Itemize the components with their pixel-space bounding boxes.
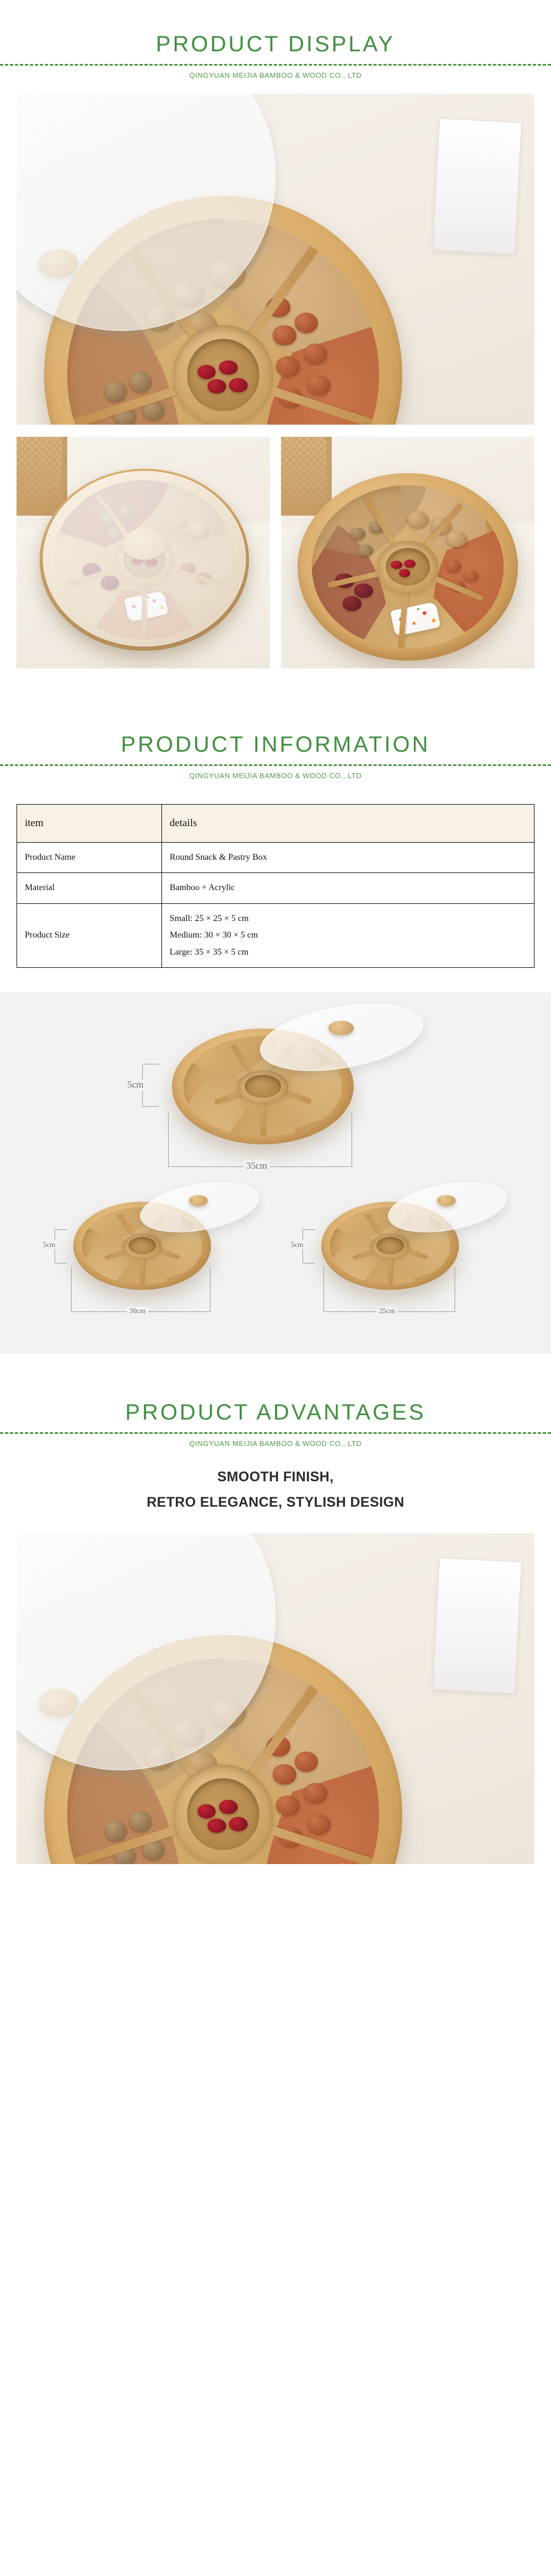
column-header-details: details xyxy=(161,805,534,843)
dimension-diagram-row: 5cm 30cm xyxy=(0,1185,551,1329)
width-dimension-label: 30cm xyxy=(127,1306,148,1315)
height-dimension-label: 5cm xyxy=(288,1240,306,1249)
center-cup xyxy=(174,1764,273,1863)
width-dimension-line xyxy=(71,1267,72,1312)
page-title-product-display: PRODUCT DISPLAY xyxy=(0,32,551,56)
section-header-product-advantages: PRODUCT ADVANTAGES QINGYUAN MEIJIA BAMBO… xyxy=(0,1368,551,1448)
dimension-diagram-small: 5cm 25cm xyxy=(295,1185,504,1329)
cell-item-product-name: Product Name xyxy=(17,843,162,873)
table-header-row: item details xyxy=(17,805,534,843)
tagline-line-1: SMOOTH FINISH, xyxy=(0,1464,551,1490)
dimension-diagram-medium: 5cm 30cm xyxy=(47,1185,256,1329)
page-title-product-information: PRODUCT INFORMATION xyxy=(0,732,551,757)
product-information-table-wrapper: item details Product Name Round Snack & … xyxy=(17,804,534,968)
width-dimension-label: 25cm xyxy=(376,1306,398,1315)
height-dimension-label: 5cm xyxy=(40,1240,58,1249)
lid-knob xyxy=(437,1195,456,1206)
section-header-product-information: PRODUCT INFORMATION QINGYUAN MEIJIA BAMB… xyxy=(0,700,551,780)
acrylic-lid xyxy=(43,471,246,646)
size-small: Small: 25 × 25 × 5 cm xyxy=(170,911,526,927)
lid-knob xyxy=(189,1195,208,1206)
table-row: Material Bamboo + Acrylic xyxy=(17,873,534,903)
bamboo-tray xyxy=(298,473,518,661)
dimension-diagram-panel: 5cm 35cm xyxy=(0,992,551,1354)
detail-photo-right xyxy=(281,437,534,668)
dashed-divider xyxy=(0,64,551,66)
company-subtitle: QINGYUAN MEIJIA BAMBOO & WOOD CO., LTD xyxy=(0,1439,551,1448)
advantages-product-photo xyxy=(17,1533,534,1864)
cell-item-product-size: Product Size xyxy=(17,903,162,967)
center-cup xyxy=(174,325,273,425)
cell-value-material: Bamboo + Acrylic xyxy=(161,873,534,903)
tagline-line-2: RETRO ELEGANCE, STYLISH DESIGN xyxy=(0,1490,551,1515)
cell-value-product-size: Small: 25 × 25 × 5 cm Medium: 30 × 30 × … xyxy=(161,903,534,967)
table-row: Product Size Small: 25 × 25 × 5 cm Mediu… xyxy=(17,903,534,967)
width-dimension-line xyxy=(323,1267,324,1312)
table-row: Product Name Round Snack & Pastry Box xyxy=(17,843,534,873)
background-book xyxy=(433,1557,522,1694)
page-title-product-advantages: PRODUCT ADVANTAGES xyxy=(0,1400,551,1424)
height-dimension-label: 5cm xyxy=(125,1079,146,1090)
cell-item-material: Material xyxy=(17,873,162,903)
size-medium: Medium: 30 × 30 × 5 cm xyxy=(170,927,526,944)
center-cup-well xyxy=(187,339,259,411)
width-dimension-line xyxy=(168,1113,169,1167)
detail-photo-row xyxy=(17,437,534,668)
size-large: Large: 35 × 35 × 5 cm xyxy=(170,944,526,961)
section-header-product-display: PRODUCT DISPLAY QINGYUAN MEIJIA BAMBOO &… xyxy=(0,0,551,79)
dashed-divider xyxy=(0,764,551,766)
cell-value-product-name: Round Snack & Pastry Box xyxy=(161,843,534,873)
company-subtitle: QINGYUAN MEIJIA BAMBOO & WOOD CO., LTD xyxy=(0,772,551,780)
column-header-item: item xyxy=(17,805,162,843)
dashed-divider xyxy=(0,1432,551,1434)
product-information-table: item details Product Name Round Snack & … xyxy=(17,804,534,968)
advantages-tagline: SMOOTH FINISH, RETRO ELEGANCE, STYLISH D… xyxy=(0,1448,551,1519)
dimension-diagram-large: 5cm 35cm xyxy=(121,1011,430,1176)
product-detail-page: PRODUCT DISPLAY QINGYUAN MEIJIA BAMBOO &… xyxy=(0,0,551,1864)
center-cup-well xyxy=(187,1778,259,1850)
lid-knob xyxy=(328,1021,354,1035)
width-dimension-label: 35cm xyxy=(244,1160,270,1171)
detail-photo-left xyxy=(17,437,270,668)
company-subtitle: QINGYUAN MEIJIA BAMBOO & WOOD CO., LTD xyxy=(0,71,551,79)
background-book xyxy=(433,118,522,255)
hero-product-photo xyxy=(17,94,534,425)
